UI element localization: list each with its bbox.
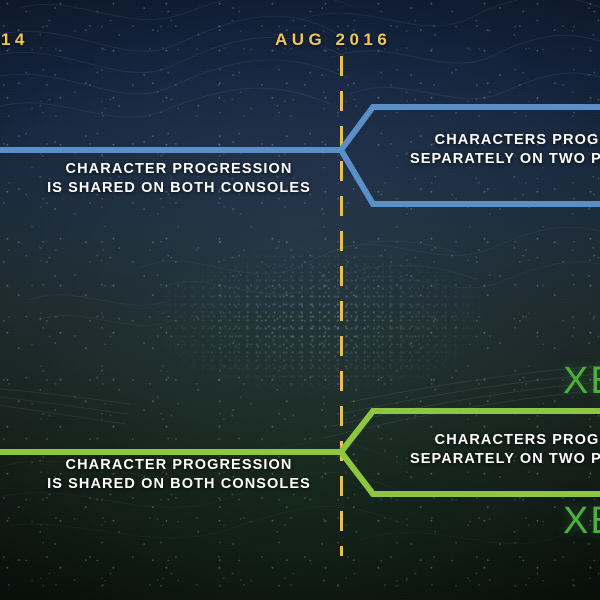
playstation-shared-caption-line2: IS SHARED ON BOTH CONSOLES xyxy=(34,179,324,198)
xbox-shared-caption: CHARACTER PROGRESSION IS SHARED ON BOTH … xyxy=(34,456,324,494)
branch-lines xyxy=(0,0,600,600)
xbox-wordmark-upper: XB xyxy=(563,360,600,403)
xbox-shared-caption-line2: IS SHARED ON BOTH CONSOLES xyxy=(34,475,324,494)
infographic-canvas: 014 AUG 2016 CHARACTER PROGRESSION IS SH… xyxy=(0,0,600,600)
xbox-separate-caption: CHARACTERS PROG SEPARATELY ON TWO PAR xyxy=(372,431,600,469)
playstation-separate-caption-line1: CHARACTERS PROG xyxy=(372,131,600,150)
xbox-wordmark-lower: XB xyxy=(563,500,600,543)
xbox-separate-caption-line2: SEPARATELY ON TWO PAR xyxy=(372,450,600,469)
xbox-separate-caption-line1: CHARACTERS PROG xyxy=(372,431,600,450)
playstation-separate-caption: CHARACTERS PROG SEPARATELY ON TWO PAR xyxy=(372,131,600,169)
playstation-separate-caption-line2: SEPARATELY ON TWO PAR xyxy=(372,150,600,169)
playstation-shared-caption-line1: CHARACTER PROGRESSION xyxy=(34,160,324,179)
playstation-shared-caption: CHARACTER PROGRESSION IS SHARED ON BOTH … xyxy=(34,160,324,198)
xbox-shared-caption-line1: CHARACTER PROGRESSION xyxy=(34,456,324,475)
